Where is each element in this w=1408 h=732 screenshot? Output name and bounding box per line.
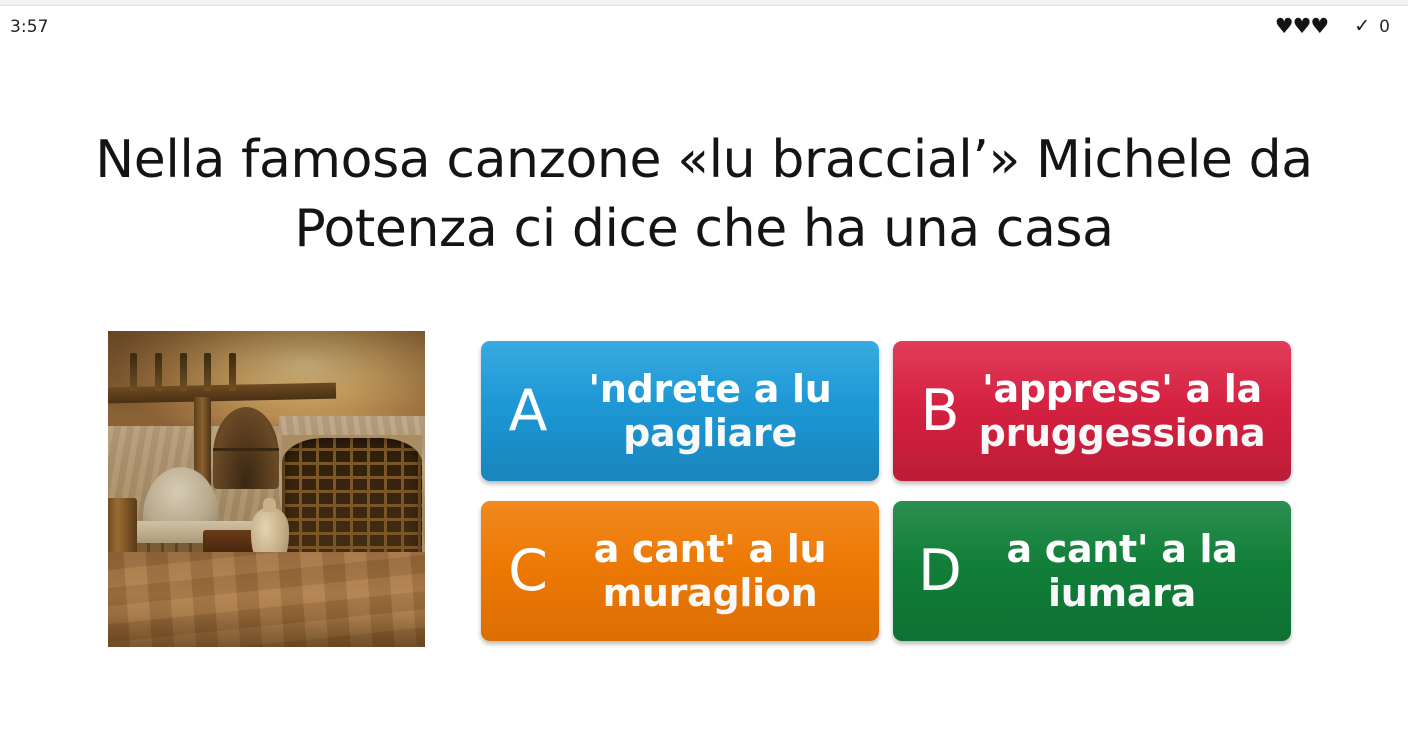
question-content: A 'ndrete a lu pagliare B 'appress' a la… <box>0 331 1408 661</box>
answer-option-d[interactable]: D a cant' a la iumara <box>893 501 1291 641</box>
status-bar-left: 3:57 <box>10 17 49 37</box>
answer-letter-d: D <box>909 543 971 600</box>
answer-option-c[interactable]: C a cant' a lu muraglion <box>481 501 879 641</box>
status-bar-right: ♥ ♥ ♥ ✓ 0 <box>1275 17 1390 38</box>
answer-options: A 'ndrete a lu pagliare B 'appress' a la… <box>481 341 1291 641</box>
answer-text-b: 'appress' a la pruggessiona <box>971 367 1277 456</box>
heart-icon: ♥ <box>1275 16 1293 37</box>
heart-icon: ♥ <box>1293 16 1311 37</box>
question-image <box>108 331 425 647</box>
answer-text-d: a cant' a la iumara <box>971 527 1277 616</box>
answer-letter-a: A <box>497 383 559 440</box>
answer-text-a: 'ndrete a lu pagliare <box>559 367 865 456</box>
quiz-status-bar: 3:57 ♥ ♥ ♥ ✓ 0 <box>0 6 1408 48</box>
score-value: 0 <box>1379 17 1390 37</box>
heart-icon: ♥ <box>1310 16 1328 37</box>
check-icon: ✓ <box>1354 17 1370 36</box>
answer-option-b[interactable]: B 'appress' a la pruggessiona <box>893 341 1291 481</box>
answer-letter-c: C <box>497 543 559 600</box>
question-text: Nella famosa canzone «lu braccial’» Mich… <box>80 126 1328 264</box>
answer-text-c: a cant' a lu muraglion <box>559 527 865 616</box>
wine-cellar-illustration <box>108 331 425 647</box>
lives-indicator: ♥ ♥ ♥ <box>1275 17 1328 38</box>
answer-letter-b: B <box>909 383 971 440</box>
answer-option-a[interactable]: A 'ndrete a lu pagliare <box>481 341 879 481</box>
score-indicator: ✓ 0 <box>1354 17 1390 37</box>
timer-display: 3:57 <box>10 17 49 37</box>
